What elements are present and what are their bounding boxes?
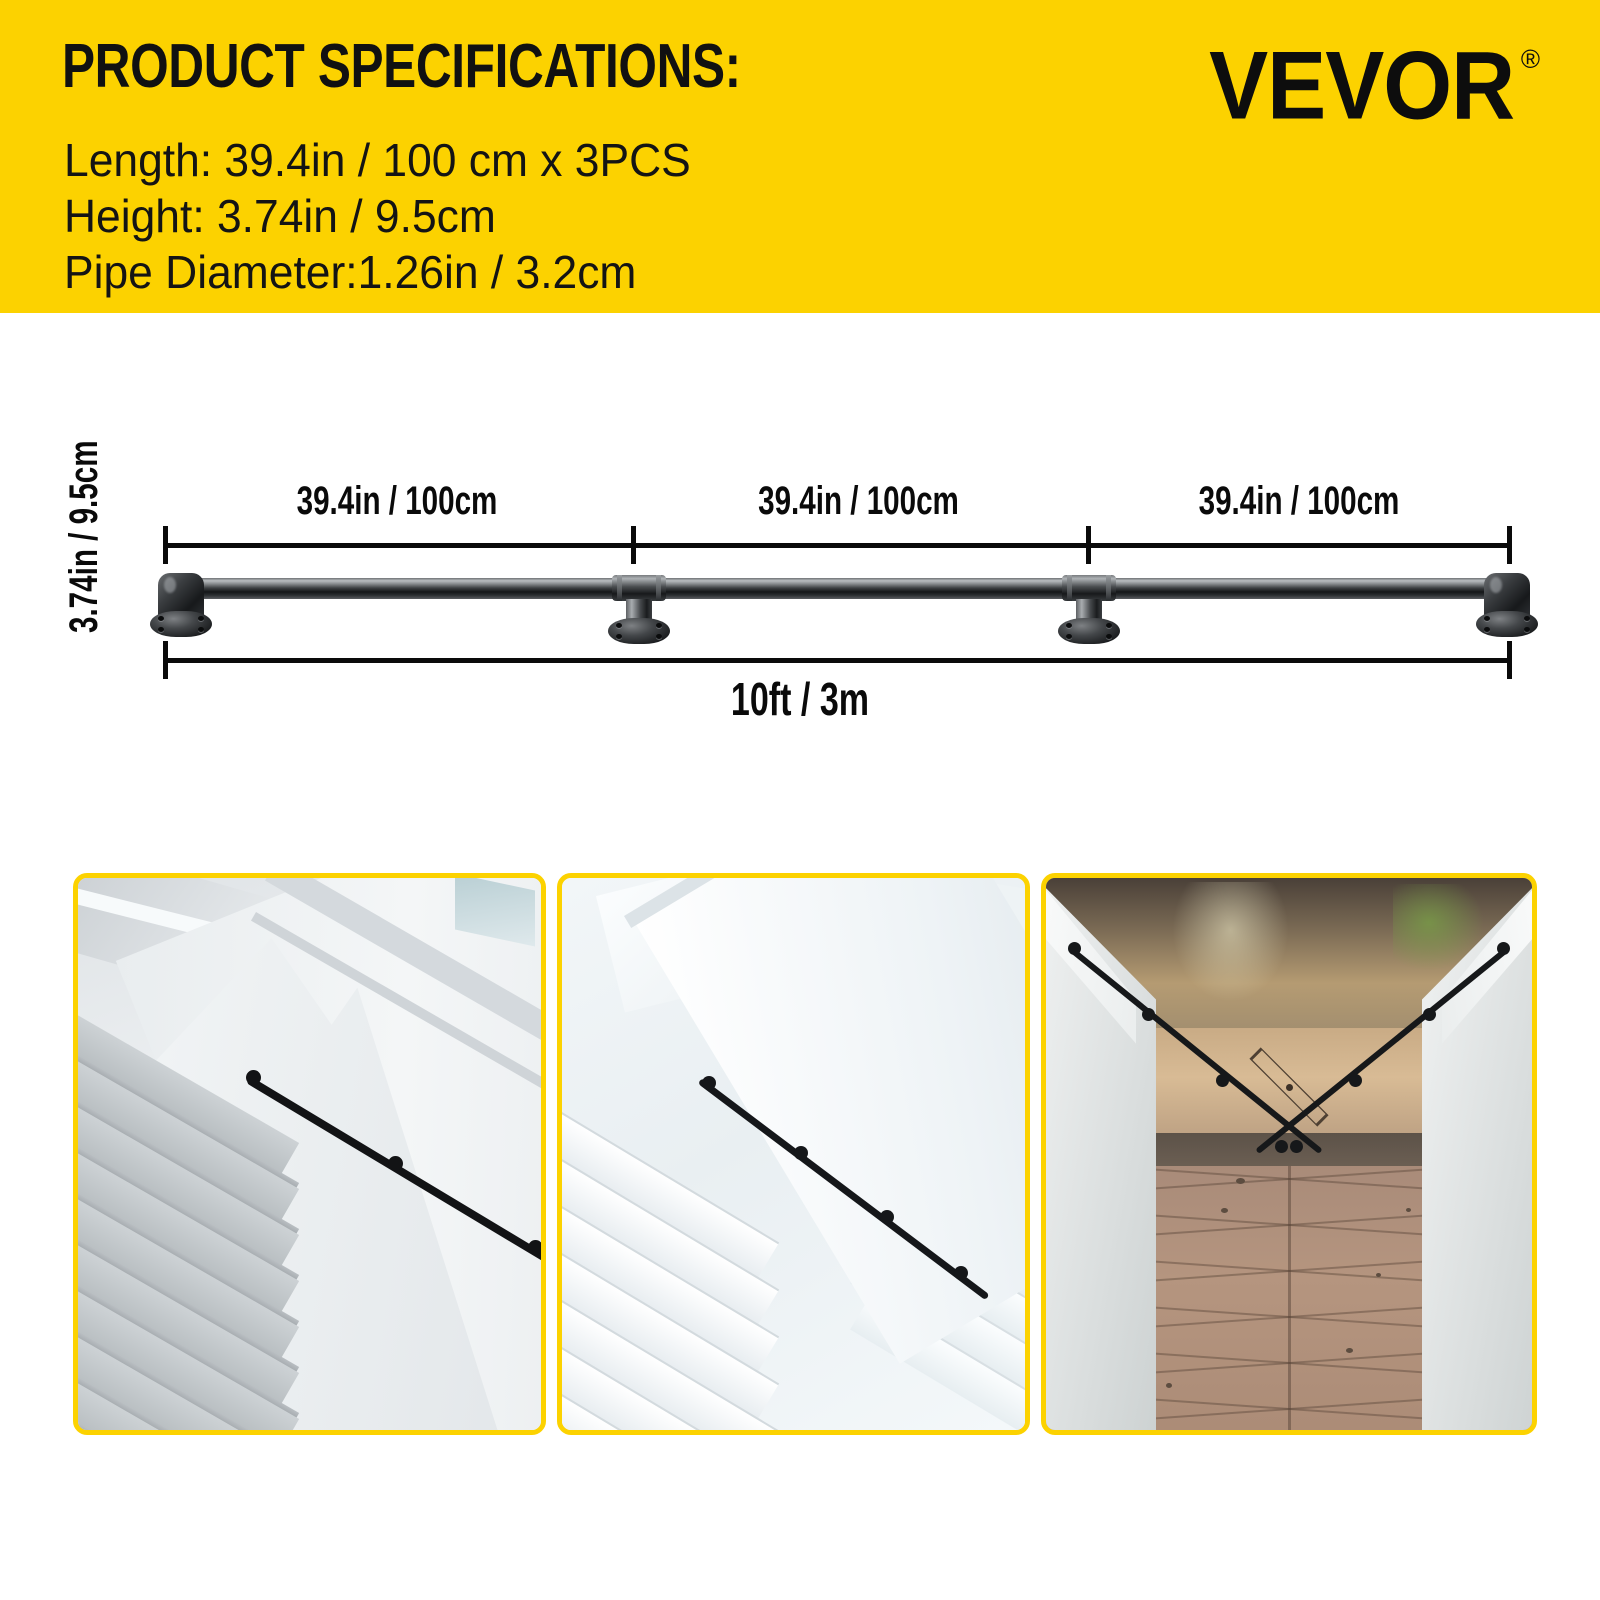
spec-header-band: PRODUCT SPECIFICATIONS: Length: 39.4in /… [0,0,1600,313]
photo-concrete-stairway[interactable] [73,873,546,1435]
spec-line-height: Height: 3.74in / 9.5cm [64,193,496,239]
dimension-diagram: 3.74in / 9.5cm 39.4in / 100cm 39.4in / 1… [0,313,1600,843]
mid-wall-flange-2 [1058,618,1120,644]
application-photo-gallery [0,843,1600,1600]
handrail-in-photo-1 [246,1076,541,1285]
pipe-section-2 [640,578,1072,599]
page-title: PRODUCT SPECIFICATIONS: [62,36,741,98]
vevor-logo: VEVOR [1209,38,1514,134]
photo-white-stairwell[interactable] [557,873,1030,1435]
photo-ramp-corridor[interactable] [1041,873,1537,1435]
total-dim-tick-start [163,641,168,679]
spec-line-length: Length: 39.4in / 100 cm x 3PCS [64,137,691,183]
left-wall-flange [150,611,212,637]
spec-line-pipe-diameter: Pipe Diameter:1.26in / 3.2cm [64,249,636,295]
pipe-handrail-assembly [0,313,1600,843]
tee-fitting-1 [612,575,666,601]
registered-trademark-icon: ® [1521,46,1540,72]
total-length-label: 10ft / 3m [625,676,976,722]
tee-fitting-2 [1062,575,1116,601]
pipe-section-1 [186,578,622,599]
right-wall-flange [1476,611,1538,637]
total-dim-tick-end [1507,641,1512,679]
total-dimension-line [163,658,1512,663]
mid-wall-flange-1 [608,618,670,644]
pipe-section-3 [1090,578,1490,599]
